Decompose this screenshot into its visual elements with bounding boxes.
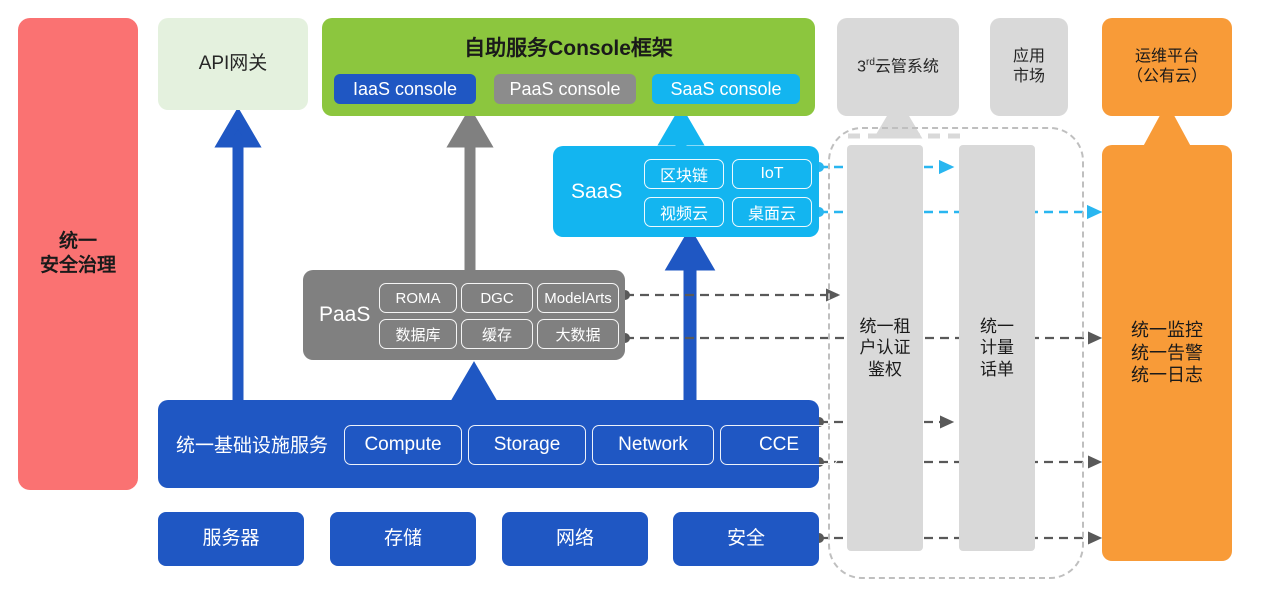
api-gateway-box: API网关 [158, 18, 308, 110]
api-gateway-label: API网关 [199, 52, 268, 76]
paas-item-dgc[interactable]: DGC [461, 283, 533, 313]
security-pillar-line2: 安全治理 [40, 254, 116, 278]
hardware-storage-box[interactable]: 存储 [330, 512, 476, 566]
infrastructure-label: 统一基础设施服务 [176, 431, 328, 458]
paas-item-modelarts[interactable]: ModelArts [537, 283, 619, 313]
paas-item-cache[interactable]: 缓存 [461, 319, 533, 349]
saas-item-video-cloud[interactable]: 视频云 [644, 197, 724, 227]
infra-item-network[interactable]: Network [592, 425, 714, 465]
infra-item-storage[interactable]: Storage [468, 425, 586, 465]
ops-platform-top-line1: 运维平台 [1135, 47, 1199, 67]
ops-platform-top-box: 运维平台 （公有云） [1102, 18, 1232, 116]
infrastructure-band: 统一基础设施服务 Compute Storage Network CCE [158, 400, 819, 488]
arrow-infra-to-saas [676, 240, 704, 416]
tenancy-billing-line3: 话单 [980, 359, 1014, 380]
infra-item-compute[interactable]: Compute [344, 425, 462, 465]
app-market-line2: 市场 [1013, 67, 1045, 87]
tenancy-billing-column: 统一 计量 话单 [959, 145, 1035, 551]
iaas-console-pill[interactable]: IaaS console [334, 74, 476, 104]
tenancy-billing-line1: 统一 [980, 316, 1014, 337]
security-pillar: 统一 安全治理 [18, 18, 138, 490]
paas-band: PaaS ROMA DGC ModelArts 数据库 缓存 大数据 [303, 270, 625, 360]
arrow-infra-to-apigw [224, 118, 252, 418]
saas-item-desktop-cloud[interactable]: 桌面云 [732, 197, 812, 227]
third-party-cloud-box: 3rd云管系统 [837, 18, 959, 116]
app-market-line1: 应用 [1013, 47, 1045, 67]
saas-item-blockchain[interactable]: 区块链 [644, 159, 724, 189]
hardware-network-box[interactable]: 网络 [502, 512, 648, 566]
ops-col-line1: 统一监控 [1131, 319, 1203, 342]
console-frame-title: 自助服务Console框架 [322, 32, 815, 62]
hardware-server-box[interactable]: 服务器 [158, 512, 304, 566]
ops-platform-top-line2: （公有云） [1127, 67, 1207, 87]
console-frame: 自助服务Console框架 IaaS console PaaS console … [322, 18, 815, 116]
paas-label: PaaS [319, 303, 370, 327]
tenancy-auth-column: 统一租 户认证 鉴权 [847, 145, 923, 551]
ops-platform-column: 统一监控 统一告警 统一日志 [1102, 145, 1232, 561]
paas-item-roma[interactable]: ROMA [379, 283, 457, 313]
paas-item-bigdata[interactable]: 大数据 [537, 319, 619, 349]
app-market-box: 应用 市场 [990, 18, 1068, 116]
ops-col-line2: 统一告警 [1131, 342, 1203, 365]
saas-console-pill[interactable]: SaaS console [652, 74, 800, 104]
tenancy-auth-line2: 户认证 [860, 337, 911, 358]
paas-console-pill[interactable]: PaaS console [494, 74, 636, 104]
tenancy-auth-line3: 鉴权 [868, 359, 902, 380]
security-pillar-line1: 统一 [59, 230, 97, 254]
tenancy-billing-line2: 计量 [980, 337, 1014, 358]
saas-band: SaaS 区块链 IoT 视频云 桌面云 [553, 146, 819, 237]
third-party-cloud-label: 3rd云管系统 [857, 57, 939, 77]
architecture-diagram: 统一 安全治理 API网关 自助服务Console框架 IaaS console… [0, 0, 1265, 605]
dashed-paas-to-auth [620, 290, 838, 300]
saas-label: SaaS [571, 180, 622, 204]
paas-item-database[interactable]: 数据库 [379, 319, 457, 349]
tenancy-auth-line1: 统一租 [860, 316, 911, 337]
hardware-security-box[interactable]: 安全 [673, 512, 819, 566]
ops-col-line3: 统一日志 [1131, 364, 1203, 387]
saas-item-iot[interactable]: IoT [732, 159, 812, 189]
infra-item-cce[interactable]: CCE [720, 425, 838, 465]
arrow-paas-to-console [456, 118, 484, 272]
arrow-into-ops-platform [1154, 116, 1180, 148]
